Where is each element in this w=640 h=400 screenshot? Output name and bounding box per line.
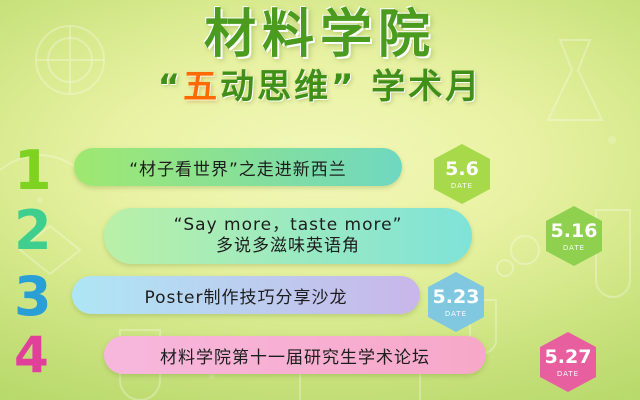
event-number: 1: [14, 144, 52, 198]
event-date-hex[interactable]: 5.27 DATE: [540, 332, 596, 392]
poster-canvas: 材料学院 “五动思维” 学术月 1 “材子看世界”之走进新西兰 5.6 DATE…: [0, 0, 640, 400]
event-date-hex[interactable]: 5.6 DATE: [434, 144, 490, 204]
event-number: 3: [14, 270, 52, 324]
event-date: 5.16: [551, 220, 598, 242]
event-date-hex[interactable]: 5.16 DATE: [546, 206, 602, 266]
event-number: 2: [14, 204, 52, 258]
event-title-line: “材子看世界”之走进新西兰: [129, 155, 347, 180]
event-date-unit: DATE: [451, 182, 473, 190]
list-item[interactable]: 4 材料学院第十一届研究生学术论坛 5.27 DATE: [0, 334, 640, 390]
event-date-hex[interactable]: 5.23 DATE: [428, 272, 484, 332]
event-title-line: “Say more，taste more”: [174, 215, 403, 236]
event-title-pill[interactable]: Poster制作技巧分享沙龙: [72, 276, 420, 314]
subtitle-pre: “: [158, 67, 183, 107]
event-list: 1 “材子看世界”之走进新西兰 5.6 DATE 2 “Say more，tas…: [0, 148, 640, 394]
subtitle-post: 动思维” 学术月: [220, 67, 482, 107]
event-title-pill[interactable]: 材料学院第十一届研究生学术论坛: [104, 336, 486, 374]
event-title-pill[interactable]: “Say more，taste more” 多说多滋味英语角: [104, 208, 472, 264]
event-date: 5.6: [445, 158, 479, 180]
event-date-unit: DATE: [557, 370, 579, 378]
page-title: 材料学院: [0, 8, 640, 63]
event-number: 4: [14, 330, 49, 380]
event-title-line-2: 多说多滋味英语角: [216, 236, 360, 257]
event-date: 5.27: [545, 346, 592, 368]
event-title-line: 材料学院第十一届研究生学术论坛: [160, 343, 430, 368]
event-title-pill[interactable]: “材子看世界”之走进新西兰: [74, 148, 402, 186]
event-date: 5.23: [433, 286, 480, 308]
list-item[interactable]: 3 Poster制作技巧分享沙龙 5.23 DATE: [0, 274, 640, 330]
list-item[interactable]: 1 “材子看世界”之走进新西兰 5.6 DATE: [0, 148, 640, 204]
event-date-unit: DATE: [563, 244, 585, 252]
list-item[interactable]: 2 “Say more，taste more” 多说多滋味英语角 5.16 DA…: [0, 208, 640, 270]
poster-subtitle: “五动思维” 学术月: [0, 69, 640, 106]
event-date-unit: DATE: [445, 310, 467, 318]
subtitle-highlight: 五: [183, 67, 220, 107]
event-title-line: Poster制作技巧分享沙龙: [144, 283, 347, 308]
poster-title-block: 材料学院 “五动思维” 学术月: [0, 8, 640, 106]
